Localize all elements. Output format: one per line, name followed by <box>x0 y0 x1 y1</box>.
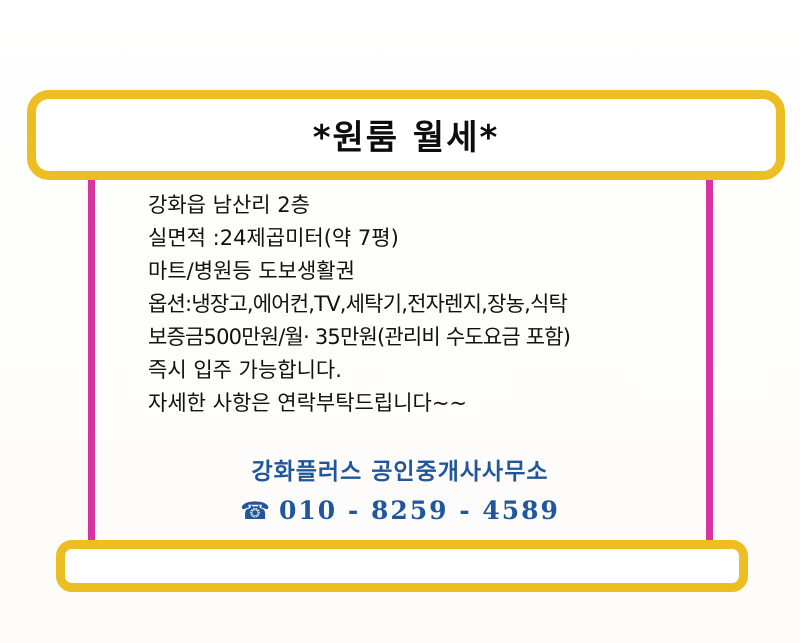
flyer-document: *원룸 월세* 강화읍 남산리 2층 실면적 :24제곱미터(약 7평) 마트/… <box>0 0 800 643</box>
phone-row[interactable]: ☎ 010 - 8259 - 4589 <box>0 495 800 527</box>
body-line-neighborhood: 마트/병원등 도보생활권 <box>148 255 708 288</box>
body-text-block: 강화읍 남산리 2층 실면적 :24제곱미터(약 7평) 마트/병원등 도보생활… <box>148 189 708 420</box>
body-line-address: 강화읍 남산리 2층 <box>148 189 708 222</box>
page-title: *원룸 월세* <box>313 121 500 155</box>
footer-block: 강화플러스 공인중개사사무소 ☎ 010 - 8259 - 4589 <box>0 455 800 527</box>
body-line-contact-note: 자세한 사항은 연락부탁드립니다~~ <box>148 387 708 420</box>
agency-name: 강화플러스 공인중개사사무소 <box>0 455 800 489</box>
phone-number[interactable]: 010 - 8259 - 4589 <box>279 495 560 527</box>
title-box: *원룸 월세* <box>27 90 785 180</box>
body-line-options: 옵션:냉장고,에어컨,TV,세탁기,전자렌지,장농,식탁 <box>148 288 708 321</box>
body-line-availability: 즉시 입주 가능합니다. <box>148 354 708 387</box>
body-line-price: 보증금500만원/월· 35만원(관리비 수도요금 포함) <box>148 321 708 354</box>
body-line-area: 실면적 :24제곱미터(약 7평) <box>148 222 708 255</box>
bottom-bar <box>56 540 748 592</box>
telephone-icon: ☎ <box>240 500 270 524</box>
